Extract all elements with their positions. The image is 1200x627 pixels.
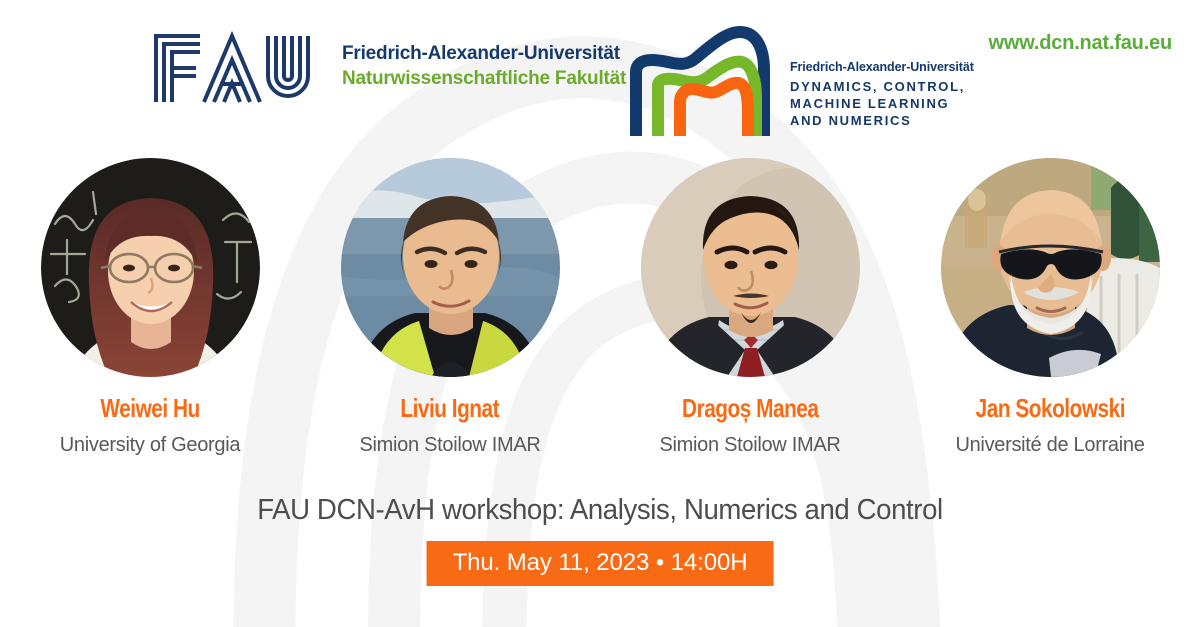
speaker-affiliation: Simion Stoilow IMAR (359, 434, 540, 456)
speakers-row: Weiwei Hu University of Georgia (0, 158, 1200, 456)
dcn-title-line-2: MACHINE LEARNING (790, 95, 974, 112)
dcn-logo: Friedrich-Alexander-Universität DYNAMICS… (624, 24, 974, 136)
dcn-university-line: Friedrich-Alexander-Universität (790, 60, 974, 74)
fau-faculty-line: Naturwissenschaftliche Fakultät (342, 67, 626, 92)
portrait-liviu-ignat (341, 158, 560, 377)
poster-header: Friedrich-Alexander-Universität Naturwis… (0, 0, 1200, 150)
speaker-name: Jan Sokolowski (975, 395, 1124, 422)
portrait-jan-sokolowski (941, 158, 1160, 377)
portrait-weiwei-hu (41, 158, 260, 377)
speaker-card: Dragoș Manea Simion Stoilow IMAR (600, 158, 900, 456)
event-poster: Friedrich-Alexander-Universität Naturwis… (0, 0, 1200, 627)
fau-wordmark-icon (148, 28, 326, 106)
speaker-portrait (641, 158, 860, 377)
speaker-affiliation: University of Georgia (60, 434, 240, 456)
speaker-card: Liviu Ignat Simion Stoilow IMAR (300, 158, 600, 456)
speaker-portrait (41, 158, 260, 377)
speaker-name: Weiwei Hu (100, 395, 199, 422)
speaker-name: Dragoș Manea (682, 395, 818, 422)
dcn-arch-icon (624, 24, 776, 136)
speaker-card: Jan Sokolowski Université de Lorraine (900, 158, 1200, 456)
fau-logo: Friedrich-Alexander-Universität Naturwis… (148, 28, 626, 106)
speaker-portrait (341, 158, 560, 377)
date-badge: Thu. May 11, 2023 • 14:00H (427, 541, 774, 586)
speaker-name: Liviu Ignat (401, 395, 500, 422)
portrait-dragos-manea (641, 158, 860, 377)
speaker-card: Weiwei Hu University of Georgia (0, 158, 300, 456)
dcn-title-line-1: DYNAMICS, CONTROL, (790, 78, 974, 95)
speaker-affiliation: Université de Lorraine (955, 434, 1144, 456)
fau-university-line: Friedrich-Alexander-Universität (342, 42, 626, 67)
website-url[interactable]: www.dcn.nat.fau.eu (989, 32, 1172, 55)
dcn-title-line-3: AND NUMERICS (790, 112, 974, 129)
workshop-title: FAU DCN-AvH workshop: Analysis, Numerics… (30, 494, 1170, 527)
speaker-portrait (941, 158, 1160, 377)
speaker-affiliation: Simion Stoilow IMAR (659, 434, 840, 456)
